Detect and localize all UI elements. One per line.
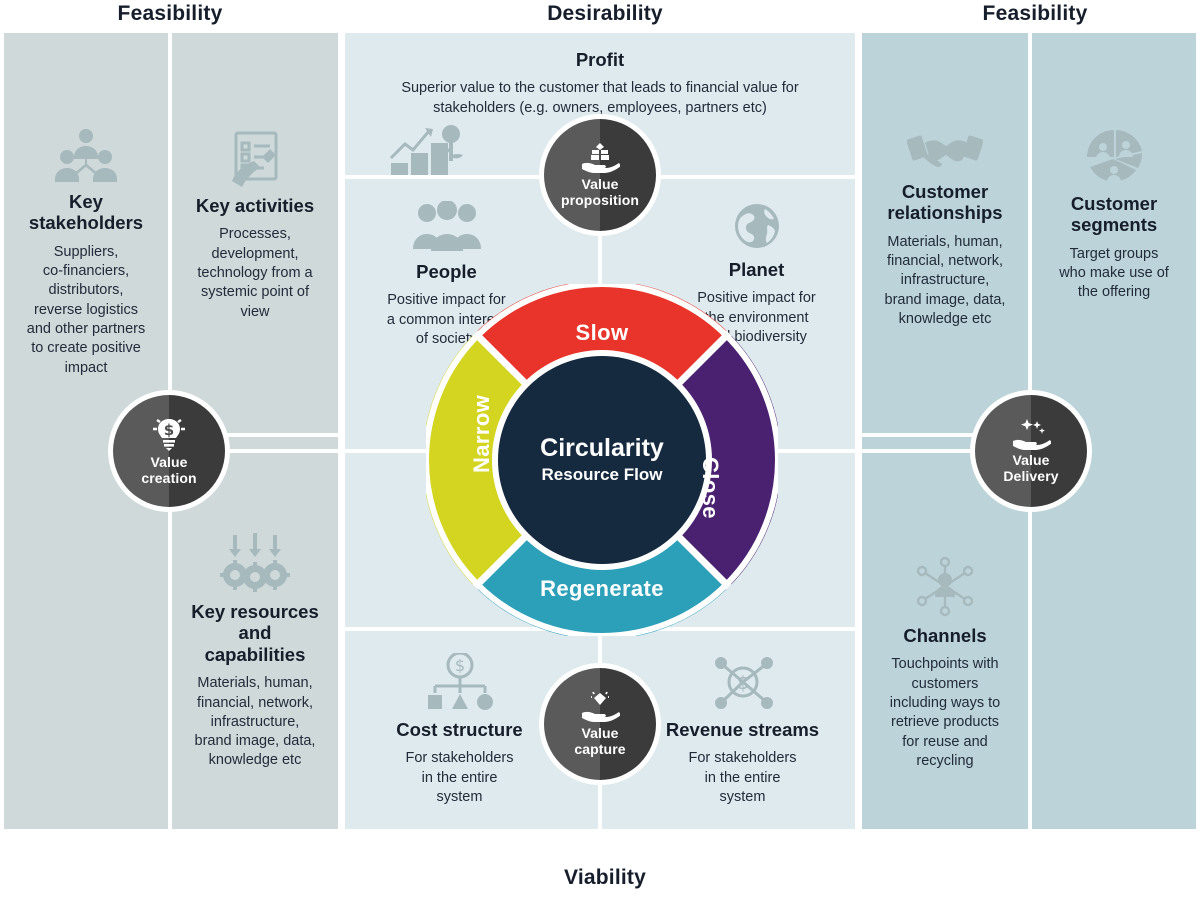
hub-label-line1: Value <box>581 176 618 192</box>
hub-value-delivery-inner: Value Delivery <box>975 395 1087 507</box>
svg-text:$: $ <box>736 672 748 694</box>
hub-value-capture[interactable]: Value capture <box>539 663 661 785</box>
panel-customer-relationships: Customerrelationships Materials, human,f… <box>862 33 1028 433</box>
hub-label-line1: Value <box>150 454 187 470</box>
cell-key-resources: Key resourcesandcapabilities Materials, … <box>172 533 338 771</box>
cell-profit: Profit Superior value to the customer th… <box>345 49 855 118</box>
block-body: For stakeholdersin the entiresystem <box>640 749 845 807</box>
block-body: Touchpoints withcustomersincluding ways … <box>872 655 1018 771</box>
hub-value-creation[interactable]: $ Value creation <box>108 390 230 512</box>
block-title: Keystakeholders <box>14 191 158 234</box>
block-title: Profit <box>355 49 845 70</box>
hub-value-capture-inner: Value capture <box>544 668 656 780</box>
hub-label: Value Delivery <box>997 453 1064 485</box>
hub-label-line1: Value <box>1012 452 1049 468</box>
gears-arrows-icon <box>182 533 328 593</box>
axis-label-feasibility-left: Feasibility <box>60 2 280 26</box>
svg-text:$: $ <box>164 421 174 439</box>
hand-sparkle-icon <box>1011 418 1051 450</box>
hub-value-delivery[interactable]: Value Delivery <box>970 390 1092 512</box>
block-body: Materials, human,financial, network,infr… <box>182 674 328 770</box>
channels-network-icon <box>872 555 1018 617</box>
donut-label-regenerate: Regenerate <box>426 576 778 602</box>
block-title: Customerrelationships <box>872 181 1018 224</box>
group-people-icon <box>355 201 538 253</box>
block-title: Cost structure <box>355 719 564 740</box>
cell-key-stakeholders: Keystakeholders Suppliers,co-financiers,… <box>4 129 168 378</box>
axis-label-desirability: Desirability <box>485 2 725 26</box>
block-title: Key activities <box>182 195 328 216</box>
block-body: Target groupswho make use ofthe offering <box>1042 245 1186 303</box>
block-body: For stakeholdersin the entiresystem <box>355 749 564 807</box>
block-body: Superior value to the customer that lead… <box>355 79 845 118</box>
revenue-network-icon: $ <box>640 653 845 711</box>
donut-center-core: Circularity Resource Flow <box>498 356 706 564</box>
hub-label-line2: capture <box>574 742 625 758</box>
block-title: Channels <box>872 625 1018 646</box>
cost-hierarchy-icon: $ <box>355 653 564 711</box>
block-body: Processes,development,technology from as… <box>182 225 328 321</box>
donut-center-subtitle: Resource Flow <box>542 466 663 485</box>
cell-key-activities: Key activities Processes,development,tec… <box>172 129 338 322</box>
donut-center-title: Circularity <box>540 435 664 463</box>
hub-value-proposition[interactable]: Value proposition <box>539 114 661 236</box>
donut-label-slow: Slow <box>426 320 778 346</box>
hub-label-line2: creation <box>141 471 196 487</box>
panel-key-activities: Key activities Processes,development,tec… <box>172 33 338 433</box>
block-title: People <box>355 261 538 282</box>
circularity-donut-chart: Circularity Resource Flow Slow Regenerat… <box>426 284 778 636</box>
axis-label-feasibility-right: Feasibility <box>925 2 1145 26</box>
svg-text:$: $ <box>454 656 464 675</box>
hand-gift-icon <box>580 142 620 174</box>
segment-pie-people-icon <box>1042 129 1186 185</box>
hub-label-line1: Value <box>581 725 618 741</box>
globe-icon <box>668 201 845 251</box>
block-title: Key resourcesandcapabilities <box>182 601 328 665</box>
handshake-icon <box>872 129 1018 173</box>
growth-plant-chart-icon <box>389 125 465 175</box>
cell-customer-segments: Customersegments Target groupswho make u… <box>1032 129 1196 303</box>
block-title: Planet <box>668 259 845 280</box>
block-body: Suppliers,co-financiers,distributors,rev… <box>14 243 158 378</box>
donut-label-narrow: Narrow <box>469 395 495 473</box>
hub-value-proposition-inner: Value proposition <box>544 119 656 231</box>
hub-label-line2: Delivery <box>1003 469 1058 485</box>
block-body: Materials, human,financial, network,infr… <box>872 233 1018 329</box>
axis-label-viability: Viability <box>485 866 725 890</box>
hub-label: Value capture <box>568 726 631 758</box>
hub-label: Value proposition <box>555 177 645 209</box>
people-network-icon <box>14 129 158 183</box>
cell-customer-relationships: Customerrelationships Materials, human,f… <box>862 129 1028 329</box>
hand-diamond-icon <box>580 691 620 723</box>
hub-label-line2: proposition <box>561 193 639 209</box>
donut-label-close: Close <box>697 457 723 519</box>
block-title: Revenue streams <box>640 719 845 740</box>
hub-value-creation-inner: $ Value creation <box>113 395 225 507</box>
cell-channels: Channels Touchpoints withcustomersinclud… <box>862 555 1028 771</box>
hub-label: Value creation <box>135 455 202 487</box>
lightbulb-dollar-icon: $ <box>150 416 188 452</box>
canvas-grid: Keystakeholders Suppliers,co-financiers,… <box>0 29 1200 858</box>
checklist-pen-icon <box>182 129 328 187</box>
block-title: Customersegments <box>1042 193 1186 236</box>
